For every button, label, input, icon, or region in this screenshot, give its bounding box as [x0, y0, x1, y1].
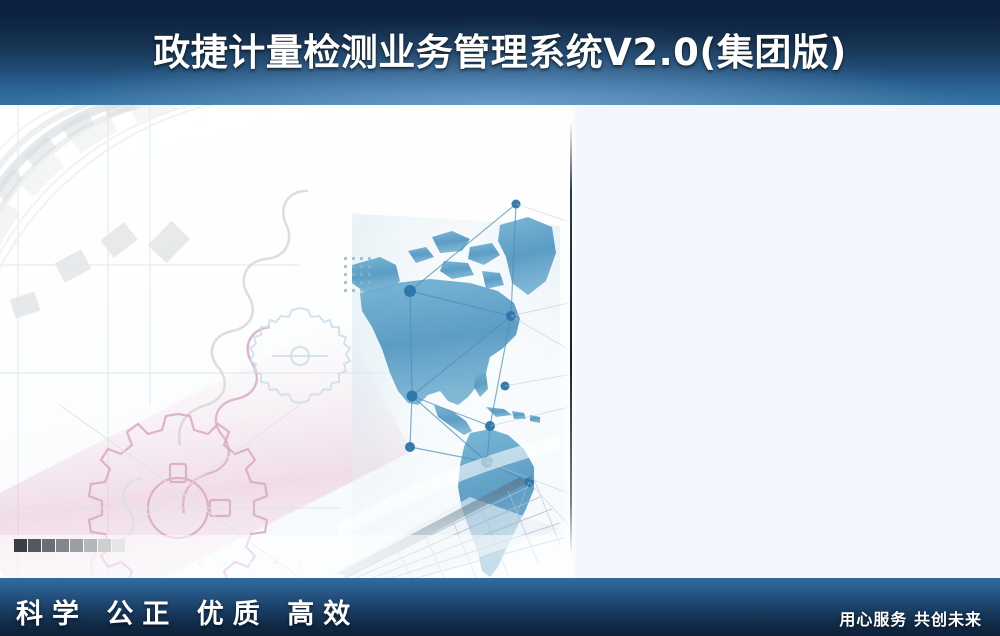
hero-graphics — [0, 105, 578, 578]
map-node-1 — [404, 285, 416, 297]
swatch-3 — [56, 539, 69, 552]
swatch-6 — [98, 539, 111, 552]
swatch-7 — [112, 539, 125, 552]
swatch-4 — [70, 539, 83, 552]
map-node-3 — [407, 391, 418, 402]
footer-slogan: 科学 公正 优质 高效 — [16, 592, 359, 631]
main-content-area — [0, 105, 1000, 578]
hero-banner-image — [0, 105, 578, 578]
swatch-5 — [84, 539, 97, 552]
map-node-6 — [405, 442, 415, 452]
footer-bar: 科学 公正 优质 高效 用心服务 共创未来 — [0, 578, 1000, 636]
application-window: 政捷计量检测业务管理系统V2.0(集团版) — [0, 0, 1000, 636]
swatch-1 — [28, 539, 41, 552]
header-bar: 政捷计量检测业务管理系统V2.0(集团版) — [0, 0, 1000, 105]
swatch-2 — [42, 539, 55, 552]
hero-edge-glow — [560, 105, 578, 578]
swatch-0 — [14, 539, 27, 552]
grayscale-swatch-strip — [14, 539, 125, 552]
footer-tagline: 用心服务 共创未来 — [839, 606, 982, 630]
page-title: 政捷计量检测业务管理系统V2.0(集团版) — [0, 22, 1000, 76]
monitor-edge-line — [570, 123, 572, 553]
